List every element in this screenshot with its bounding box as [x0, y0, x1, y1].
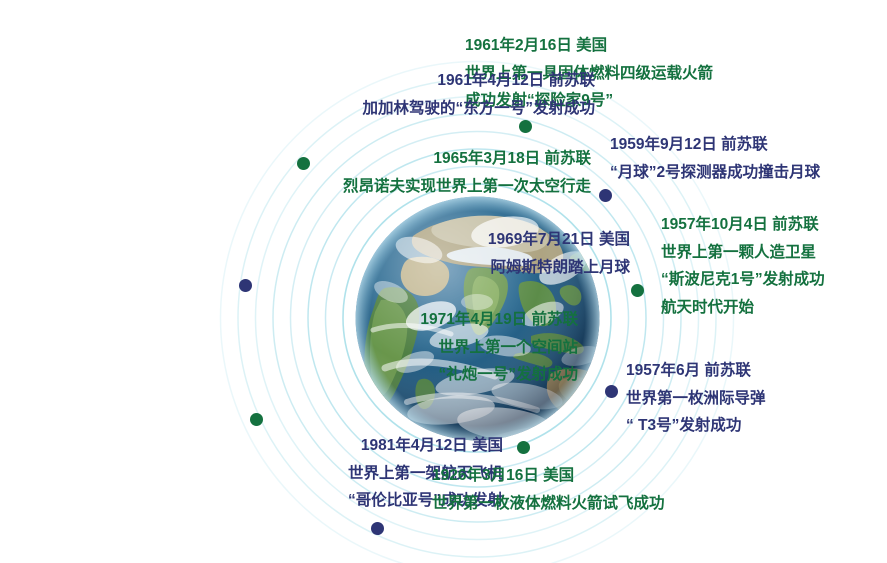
event-detail-line: 烈昂诺夫实现世界上第一次太空行走 [343, 173, 591, 201]
event-detail-line: 世界第一枚液体燃料火箭试飞成功 [432, 490, 665, 518]
event-label: 1969年7月21日 美国阿姆斯特朗踏上月球 [488, 226, 630, 281]
event-detail-line: 加加林驾驶的“东方一号”发射成功 [362, 95, 595, 123]
space-milestones-infographic: 1961年2月16日 美国世界上第一具固体燃料四级运载火箭成功发射“探险家9号”… [0, 0, 887, 563]
event-date-line: 1961年2月16日 美国 [465, 32, 713, 60]
event-label: 1926年3月16日 美国世界第一枚液体燃料火箭试飞成功 [432, 462, 665, 517]
event-marker-dot[interactable] [605, 385, 618, 398]
event-marker-dot[interactable] [631, 284, 644, 297]
event-detail-line: “礼炮一号”发射成功 [420, 361, 578, 389]
event-marker-dot[interactable] [371, 522, 384, 535]
event-detail-line: 世界第一枚洲际导弹 [626, 385, 766, 413]
event-date-line: 1959年9月12日 前苏联 [610, 131, 820, 159]
event-detail-line: “斯波尼克1号”发射成功 [661, 266, 825, 294]
event-date-line: 1971年4月19日 前苏联 [420, 306, 578, 334]
event-marker-dot[interactable] [250, 413, 263, 426]
event-date-line: 1961年4月12日 前苏联 [362, 67, 595, 95]
event-detail-line: “ T3号”发射成功 [626, 412, 766, 440]
event-date-line: 1981年4月12日 美国 [348, 432, 503, 460]
event-detail-line: 航天时代开始 [661, 294, 825, 322]
event-date-line: 1926年3月16日 美国 [432, 462, 665, 490]
event-marker-dot[interactable] [517, 441, 530, 454]
event-label: 1961年4月12日 前苏联加加林驾驶的“东方一号”发射成功 [362, 67, 595, 122]
event-date-line: 1957年10月4日 前苏联 [661, 211, 825, 239]
event-detail-line: “月球”2号探测器成功撞击月球 [610, 159, 820, 187]
event-date-line: 1957年6月 前苏联 [626, 357, 766, 385]
event-label: 1965年3月18日 前苏联烈昂诺夫实现世界上第一次太空行走 [343, 145, 591, 200]
event-marker-dot[interactable] [297, 157, 310, 170]
event-label: 1957年10月4日 前苏联世界上第一颗人造卫星“斯波尼克1号”发射成功航天时代… [661, 211, 825, 321]
event-label: 1971年4月19日 前苏联世界上第一个空间站“礼炮一号”发射成功 [420, 306, 578, 389]
event-marker-dot[interactable] [599, 189, 612, 202]
event-detail-line: 阿姆斯特朗踏上月球 [488, 254, 630, 282]
event-detail-line: 世界上第一颗人造卫星 [661, 239, 825, 267]
event-label: 1959年9月12日 前苏联“月球”2号探测器成功撞击月球 [610, 131, 820, 186]
event-label: 1957年6月 前苏联世界第一枚洲际导弹“ T3号”发射成功 [626, 357, 766, 440]
event-date-line: 1965年3月18日 前苏联 [343, 145, 591, 173]
event-date-line: 1969年7月21日 美国 [488, 226, 630, 254]
event-marker-dot[interactable] [239, 279, 252, 292]
event-detail-line: 世界上第一个空间站 [420, 334, 578, 362]
